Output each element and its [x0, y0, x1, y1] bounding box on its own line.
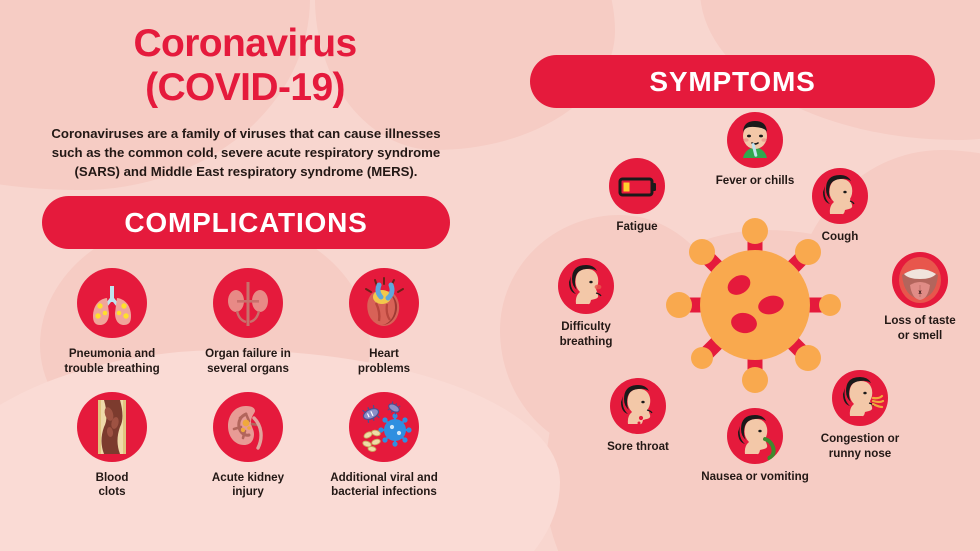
- complication-item: Pneumonia andtrouble breathing: [44, 268, 180, 377]
- complication-item: Acute kidneyinjury: [180, 392, 316, 501]
- complication-item: Additional viral andbacterial infections: [316, 392, 452, 501]
- complication-label: Bloodclots: [44, 471, 180, 501]
- low-battery-icon: [609, 158, 665, 214]
- title-line-2: (COVID-19): [145, 66, 345, 109]
- symptom-label: Cough: [785, 230, 895, 245]
- symptom-label: Loss of taste or smell: [860, 314, 980, 343]
- single-kidney-icon: [213, 392, 283, 462]
- complication-label: Pneumonia andtrouble breathing: [44, 347, 180, 377]
- complications-grid: Pneumonia andtrouble breathing: [44, 268, 454, 500]
- child-thermometer-icon: [727, 112, 783, 168]
- symptom-label-line2: breathing: [560, 335, 613, 348]
- symptom-label: Fatigue: [582, 220, 692, 235]
- symptom-cough: Cough: [785, 168, 895, 245]
- complication-label: Heartproblems: [316, 347, 452, 377]
- lungs-icon: [77, 268, 147, 338]
- section-heading-complications: COMPLICATIONS: [42, 196, 450, 249]
- complication-label: Acute kidneyinjury: [180, 471, 316, 501]
- bacteria-virus-icon: [349, 392, 419, 462]
- vomiting-head-icon: [727, 408, 783, 464]
- title-line-1: Coronavirus: [133, 22, 356, 65]
- symptom-label-line2: or smell: [898, 329, 942, 342]
- complication-label: Organ failure inseveral organs: [180, 347, 316, 377]
- symptom-label-line1: Loss of taste: [884, 314, 956, 327]
- kidneys-icon: [213, 268, 283, 338]
- open-mouth-tongue-icon: x: [892, 252, 948, 308]
- page-title: Coronavirus (COVID-19): [40, 22, 450, 109]
- complication-item: Heartproblems: [316, 268, 452, 377]
- complications-row-1: Pneumonia andtrouble breathing: [44, 268, 454, 377]
- complication-item: Organ failure inseveral organs: [180, 268, 316, 377]
- symptoms-diagram: Fever or chills Fatigue: [530, 110, 980, 550]
- symptom-difficulty-breathing: Difficulty breathing: [526, 258, 646, 349]
- complications-row-2: Bloodclots: [44, 392, 454, 501]
- runny-nose-head-icon: [832, 370, 888, 426]
- coughing-head-icon: [812, 168, 868, 224]
- section-heading-symptoms: SYMPTOMS: [530, 55, 935, 108]
- symptom-loss-of-taste-or-smell: x Loss of taste or smell: [860, 252, 980, 343]
- symptom-congestion-or-runny-nose: Congestion or runny nose: [795, 370, 925, 461]
- covid-infographic-poster: Coronavirus (COVID-19) Coronaviruses are…: [0, 0, 980, 551]
- blood-vessel-clot-icon: [77, 392, 147, 462]
- symptom-label-line1: Congestion or: [821, 432, 900, 445]
- symptom-label: Nausea or vomiting: [675, 470, 835, 485]
- intro-paragraph: Coronaviruses are a family of viruses th…: [42, 124, 450, 181]
- symptom-label: Congestion or runny nose: [795, 432, 925, 461]
- complication-label: Additional viral andbacterial infections: [316, 471, 452, 501]
- symptom-label-line1: Difficulty: [561, 320, 611, 333]
- symptom-label: Difficulty breathing: [526, 320, 646, 349]
- sore-throat-head-icon: [610, 378, 666, 434]
- symptom-fatigue: Fatigue: [582, 158, 692, 235]
- heart-icon: [349, 268, 419, 338]
- symptom-label-line2: runny nose: [829, 447, 892, 460]
- complication-item: Bloodclots: [44, 392, 180, 501]
- breathing-head-icon: [558, 258, 614, 314]
